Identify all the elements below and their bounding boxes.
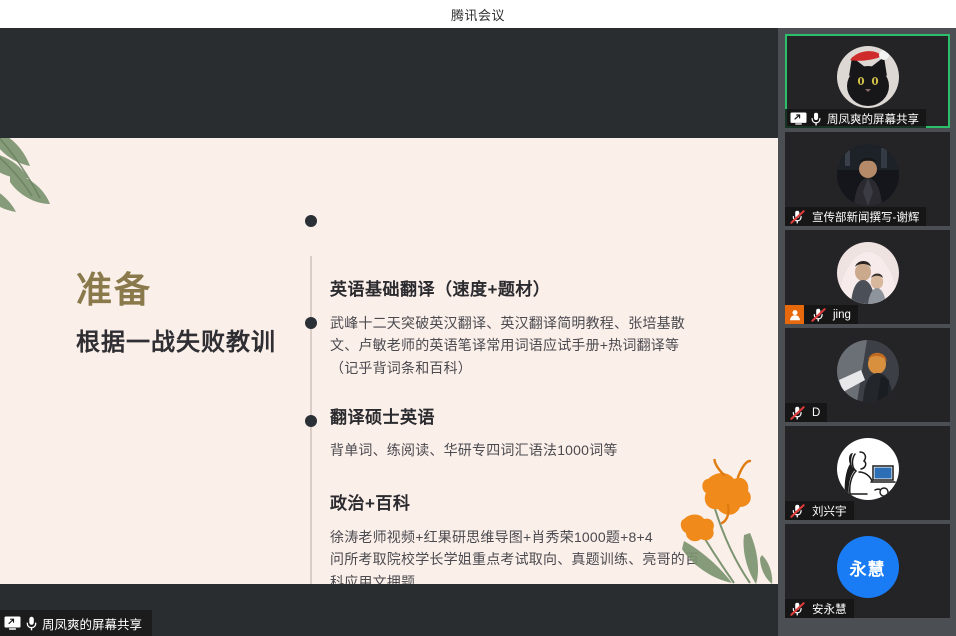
participant-name: 安永慧 <box>810 601 847 617</box>
avatar <box>837 438 899 500</box>
slide-title: 准备 <box>76 270 296 310</box>
tile-status-bar: jing <box>785 305 858 324</box>
microphone-icon <box>811 112 821 126</box>
microphone-icon <box>26 616 37 631</box>
slide-content-column: 英语基础翻译（速度+题材） 武峰十二天突破英汉翻译、英汉翻译简明教程、张培基散文… <box>330 278 700 584</box>
tencent-meeting-window: 腾讯会议 <box>0 0 956 636</box>
avatar-initials: 永慧 <box>837 536 899 598</box>
floral-decoration-icon <box>654 459 774 584</box>
microphone-muted-icon <box>811 308 827 322</box>
leaf-decoration-icon <box>0 138 104 233</box>
tile-status-bar: D <box>785 403 827 422</box>
screen-share-status-bar: 周凤爽的屏幕共享 <box>0 610 152 636</box>
slide-subtitle: 根据一战失败教训 <box>76 322 296 357</box>
host-person-icon <box>789 309 801 321</box>
slide-block: 英语基础翻译（速度+题材） 武峰十二天突破英汉翻译、英汉翻译简明教程、张培基散文… <box>330 278 700 380</box>
participant-name: jing <box>831 309 851 321</box>
participant-panel[interactable]: 周凤爽的屏幕共享 <box>778 28 956 636</box>
screen-share-icon <box>4 616 21 630</box>
tile-status-bar: 周凤爽的屏幕共享 <box>785 109 926 128</box>
shared-screen-stage: 准备 根据一战失败教训 英语基础翻译（速度+题材） 武峰十二天突破英汉翻译、英汉… <box>0 28 778 636</box>
timeline-dot-2 <box>305 317 317 329</box>
share-bar-label: 周凤爽的屏幕共享 <box>42 614 142 633</box>
participant-tile[interactable]: D <box>785 328 950 422</box>
avatar <box>837 340 899 402</box>
microphone-muted-icon <box>790 210 806 224</box>
microphone-muted-icon <box>790 406 806 420</box>
timeline-dot-1 <box>305 215 317 227</box>
slide-heading-block: 准备 根据一战失败教训 <box>76 270 296 357</box>
slide-block-heading: 翻译硕士英语 <box>330 406 700 431</box>
app-title: 腾讯会议 <box>451 5 505 24</box>
tile-status-bar: 安永慧 <box>785 599 854 618</box>
avatar <box>837 144 899 206</box>
tile-status-bar: 宣传部新闻撰写-谢辉 <box>785 207 926 226</box>
screen-share-icon <box>790 112 807 125</box>
slide-block-body: 武峰十二天突破英汉翻译、英汉翻译简明教程、张培基散文、卢敏老师的英语笔译常用词语… <box>330 312 700 380</box>
slide-block-body: 徐涛老师视频+红果研思维导图+肖秀荣1000题+8+4 问所考取院校学长学姐重点… <box>330 526 700 584</box>
avatar <box>837 242 899 304</box>
slide-block-heading: 英语基础翻译（速度+题材） <box>330 278 700 303</box>
participant-tile[interactable]: 宣传部新闻撰写-谢辉 <box>785 132 950 226</box>
avatar <box>837 46 899 108</box>
microphone-muted-icon <box>790 602 806 616</box>
participant-name: 刘兴宇 <box>810 503 847 519</box>
timeline-dot-3 <box>305 415 317 427</box>
tile-status-bar: 刘兴宇 <box>785 501 854 520</box>
participant-name: D <box>810 407 820 419</box>
participant-tile[interactable]: 永慧 安永慧 <box>785 524 950 618</box>
participant-tile[interactable]: 周凤爽的屏幕共享 <box>785 34 950 128</box>
slide-block-body: 背单词、练阅读、华研专四词汇语法1000词等 <box>330 439 700 462</box>
host-badge <box>785 305 804 324</box>
participant-tile[interactable]: 刘兴宇 <box>785 426 950 520</box>
slide-block: 翻译硕士英语 背单词、练阅读、华研专四词汇语法1000词等 <box>330 406 700 462</box>
window-title-bar: 腾讯会议 <box>0 0 956 28</box>
slide-block-heading: 政治+百科 <box>330 492 700 517</box>
participant-name: 周凤爽的屏幕共享 <box>825 111 919 127</box>
shared-slide: 准备 根据一战失败教训 英语基础翻译（速度+题材） 武峰十二天突破英汉翻译、英汉… <box>0 138 778 584</box>
participant-tile[interactable]: jing <box>785 230 950 324</box>
microphone-muted-icon <box>790 504 806 518</box>
participant-name: 宣传部新闻撰写-谢辉 <box>810 209 919 225</box>
slide-block: 政治+百科 徐涛老师视频+红果研思维导图+肖秀荣1000题+8+4 问所考取院校… <box>330 492 700 584</box>
